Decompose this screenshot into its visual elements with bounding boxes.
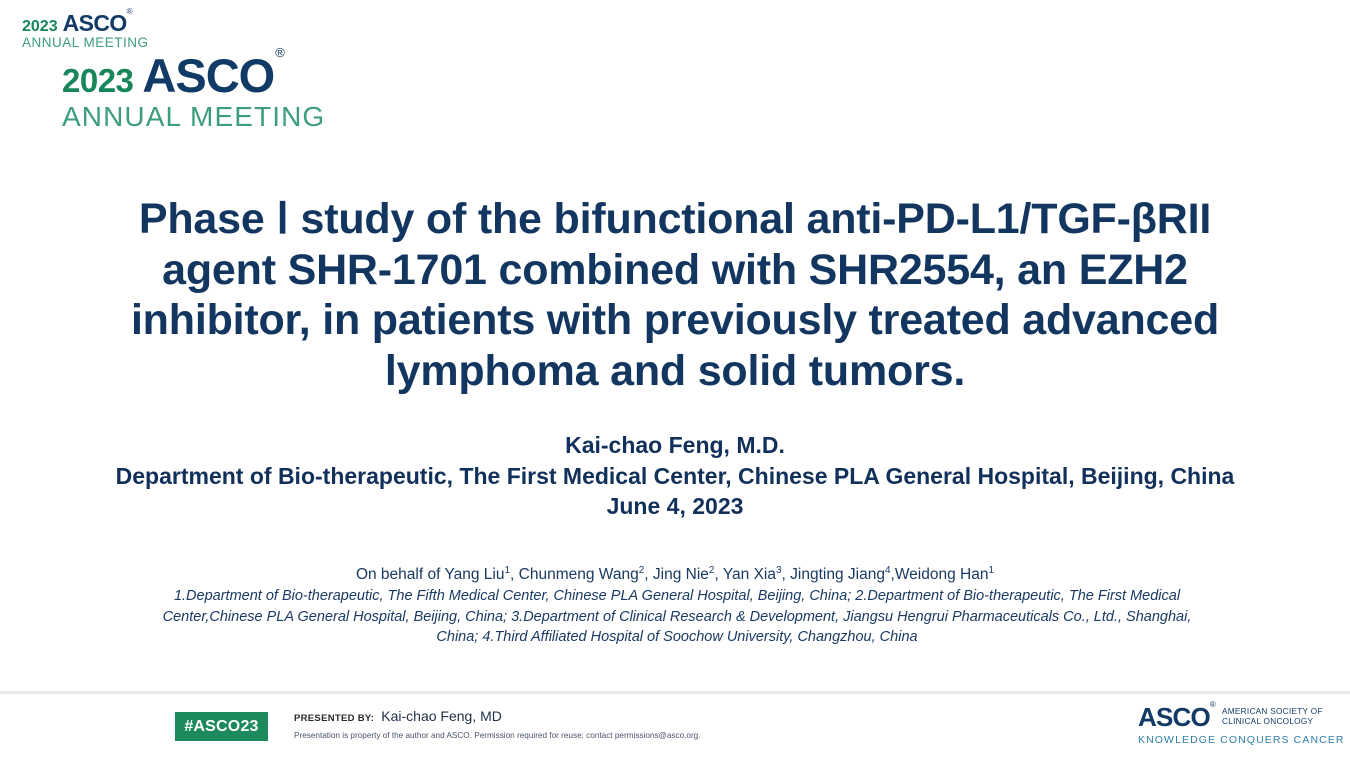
author-name: Weidong Han (895, 566, 989, 583)
author-entry: Weidong Han1 (895, 566, 994, 583)
affiliation-line-2: Center,Chinese PLA General Hospital, Bei… (72, 607, 1282, 628)
presenter-block: Kai-chao Feng, M.D. Department of Bio-th… (60, 430, 1290, 522)
author-list: On behalf of Yang Liu1, Chunmeng Wang2, … (60, 565, 1290, 585)
author-separator: , (644, 566, 653, 583)
footer-logo-primary-row: 2023 ASCO® (22, 12, 172, 35)
logo-primary-row: 2023 ASCO® (62, 52, 332, 100)
author-entry: Yan Xia3, (723, 566, 790, 583)
title-line-4: lymphoma and solid tumors. (95, 346, 1255, 397)
affiliation-line-1: 1.Department of Bio-therapeutic, The Fif… (72, 586, 1282, 607)
author-name: Jingting Jiang (790, 566, 885, 583)
author-name: Yang Liu (444, 566, 504, 583)
society-name-line-2: CLINICAL ONCOLOGY (1222, 717, 1313, 726)
author-affiliation-marker: 1 (988, 565, 994, 576)
footer-logo-year: 2023 (22, 19, 58, 35)
presented-by-line: PRESENTED BY: Kai-chao Feng, MD (294, 708, 854, 724)
author-separator: , (714, 566, 722, 583)
title-line-3: inhibitor, in patients with previously t… (95, 295, 1255, 346)
society-name-line-1: AMERICAN SOCIETY OF (1222, 707, 1323, 716)
logo-subtitle: ANNUAL MEETING (62, 102, 332, 133)
society-tagline: KNOWLEDGE CONQUERS CANCER (1138, 734, 1338, 746)
author-separator: , (510, 566, 519, 583)
presentation-date: June 4, 2023 (60, 491, 1290, 522)
asco-wordmark: ASCO® (142, 52, 282, 99)
asco-annual-meeting-logo: 2023 ASCO® ANNUAL MEETING (62, 52, 332, 140)
footer-registered-trademark-icon: ® (127, 7, 132, 16)
affiliation-line-3: China; 4.Third Affiliated Hospital of So… (72, 627, 1282, 648)
footer-asco-wordmark: ASCO® (63, 12, 132, 35)
author-name: Yan Xia (723, 566, 776, 583)
author-name: Chunmeng Wang (519, 566, 639, 583)
affiliations-block: 1.Department of Bio-therapeutic, The Fif… (72, 586, 1282, 648)
society-logo-primary-row: ASCO® AMERICAN SOCIETY OF CLINICAL ONCOL… (1138, 704, 1338, 730)
society-asco-wordmark: ASCO® (1138, 704, 1215, 730)
author-entry: Jing Nie2, (653, 566, 723, 583)
footer-logo-subtitle: ANNUAL MEETING (22, 36, 172, 51)
hashtag-badge: #ASCO23 (175, 712, 268, 741)
author-list-prefix: On behalf of (356, 566, 444, 583)
society-asco-wordmark-text: ASCO (1138, 702, 1210, 732)
copyright-note: Presentation is property of the author a… (294, 731, 854, 740)
author-entry: Yang Liu1, (444, 566, 518, 583)
author-name: Jing Nie (653, 566, 709, 583)
registered-trademark-icon: ® (275, 45, 284, 60)
asco-wordmark-text: ASCO (142, 49, 274, 102)
society-registered-trademark-icon: ® (1210, 700, 1215, 709)
author-entry: Jingting Jiang4, (790, 566, 895, 583)
slide-title: Phase Ⅰ study of the bifunctional anti-P… (95, 194, 1255, 397)
presenter-name: Kai-chao Feng, M.D. (60, 430, 1290, 461)
author-entry: Chunmeng Wang2, (519, 566, 653, 583)
footer-asco-logo: 2023 ASCO® ANNUAL MEETING (22, 12, 172, 51)
footer-asco-wordmark-text: ASCO (63, 10, 127, 36)
presented-by-name: Kai-chao Feng, MD (381, 708, 502, 724)
title-line-2: agent SHR-1701 combined with SHR2554, an… (95, 245, 1255, 296)
presented-by-label: PRESENTED BY: (294, 713, 374, 724)
author-separator: , (782, 566, 791, 583)
asco-society-logo: ASCO® AMERICAN SOCIETY OF CLINICAL ONCOL… (1138, 704, 1338, 746)
logo-year: 2023 (62, 64, 133, 97)
presented-by-block: PRESENTED BY: Kai-chao Feng, MD Presenta… (294, 708, 854, 740)
society-name: AMERICAN SOCIETY OF CLINICAL ONCOLOGY (1222, 707, 1323, 728)
title-line-1: Phase Ⅰ study of the bifunctional anti-P… (95, 194, 1255, 245)
presenter-affiliation: Department of Bio-therapeutic, The First… (60, 461, 1290, 492)
